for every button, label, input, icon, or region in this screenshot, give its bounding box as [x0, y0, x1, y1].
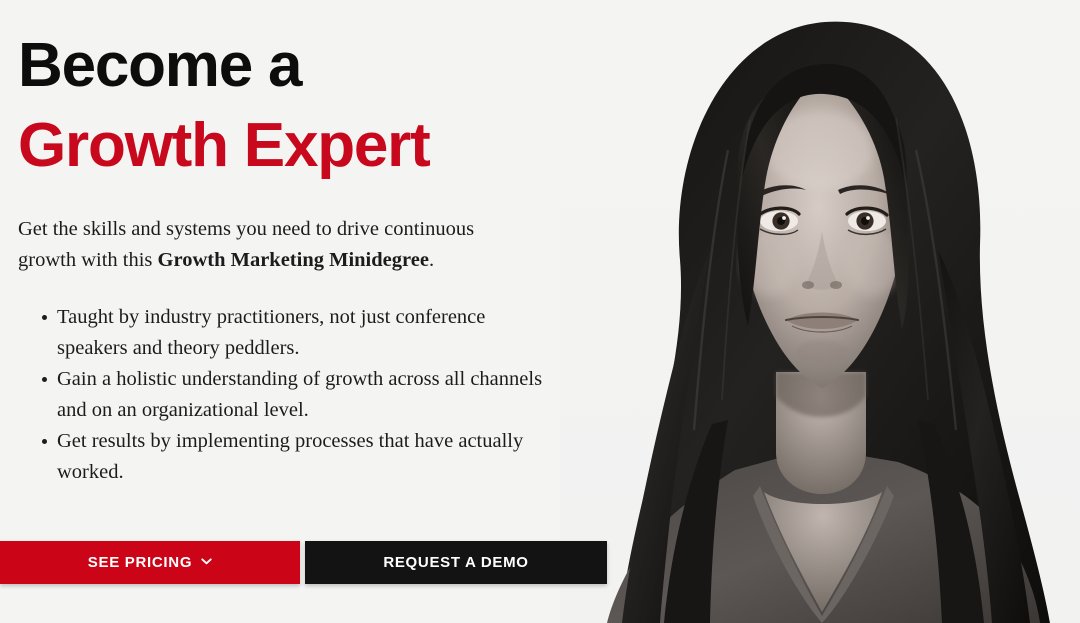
request-demo-button[interactable]: REQUEST A DEMO — [305, 541, 607, 584]
see-pricing-label: SEE PRICING — [88, 554, 192, 571]
subtitle-program-name: Growth Marketing Minidegree — [158, 249, 429, 271]
list-item: Taught by industry practitioners, not ju… — [18, 302, 558, 364]
cta-button-row: SEE PRICING REQUEST A DEMO — [0, 541, 607, 584]
list-item: Gain a holistic understanding of growth … — [18, 364, 558, 426]
page-title: Become a Growth Expert — [18, 26, 618, 186]
subtitle-text-after: . — [429, 249, 434, 271]
hero-portrait-image — [560, 0, 1080, 623]
chevron-down-icon — [201, 556, 212, 567]
benefits-list: Taught by industry practitioners, not ju… — [18, 302, 558, 488]
hero-copy: Become a Growth Expert Get the skills an… — [18, 0, 618, 623]
see-pricing-button[interactable]: SEE PRICING — [0, 541, 300, 584]
request-demo-label: REQUEST A DEMO — [383, 554, 528, 571]
headline-line-2: Growth Expert — [18, 106, 618, 186]
headline-line-1: Become a — [18, 31, 301, 100]
list-item: Get results by implementing processes th… — [18, 426, 558, 488]
hero-subtitle: Get the skills and systems you need to d… — [18, 214, 518, 276]
hero-section: Become a Growth Expert Get the skills an… — [0, 0, 1080, 623]
